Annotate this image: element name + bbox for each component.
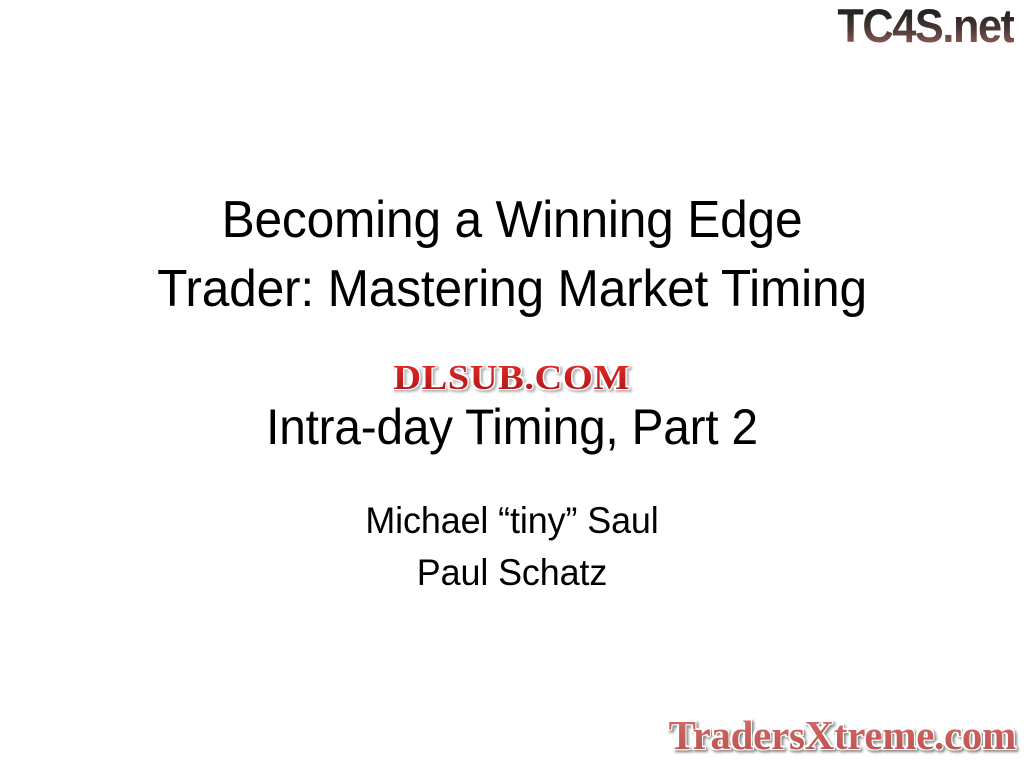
title-line-2: Trader: Mastering Market Timing	[23, 255, 1001, 324]
slide-subtitle: Intra-day Timing, Part 2	[23, 393, 1001, 462]
title-line-1: Becoming a Winning Edge	[23, 186, 1001, 255]
author-name-2: Paul Schatz	[15, 547, 1008, 599]
author-name-1: Michael “tiny” Saul	[15, 495, 1008, 547]
presentation-slide: TC4S.net Becoming a Winning Edge Trader:…	[0, 0, 1024, 768]
slide-authors: Michael “tiny” Saul Paul Schatz	[15, 495, 1008, 599]
slide-title: Becoming a Winning Edge Trader: Masterin…	[23, 186, 1001, 462]
slide-content: Becoming a Winning Edge Trader: Masterin…	[0, 0, 1024, 768]
title-blank-line	[23, 324, 1001, 393]
